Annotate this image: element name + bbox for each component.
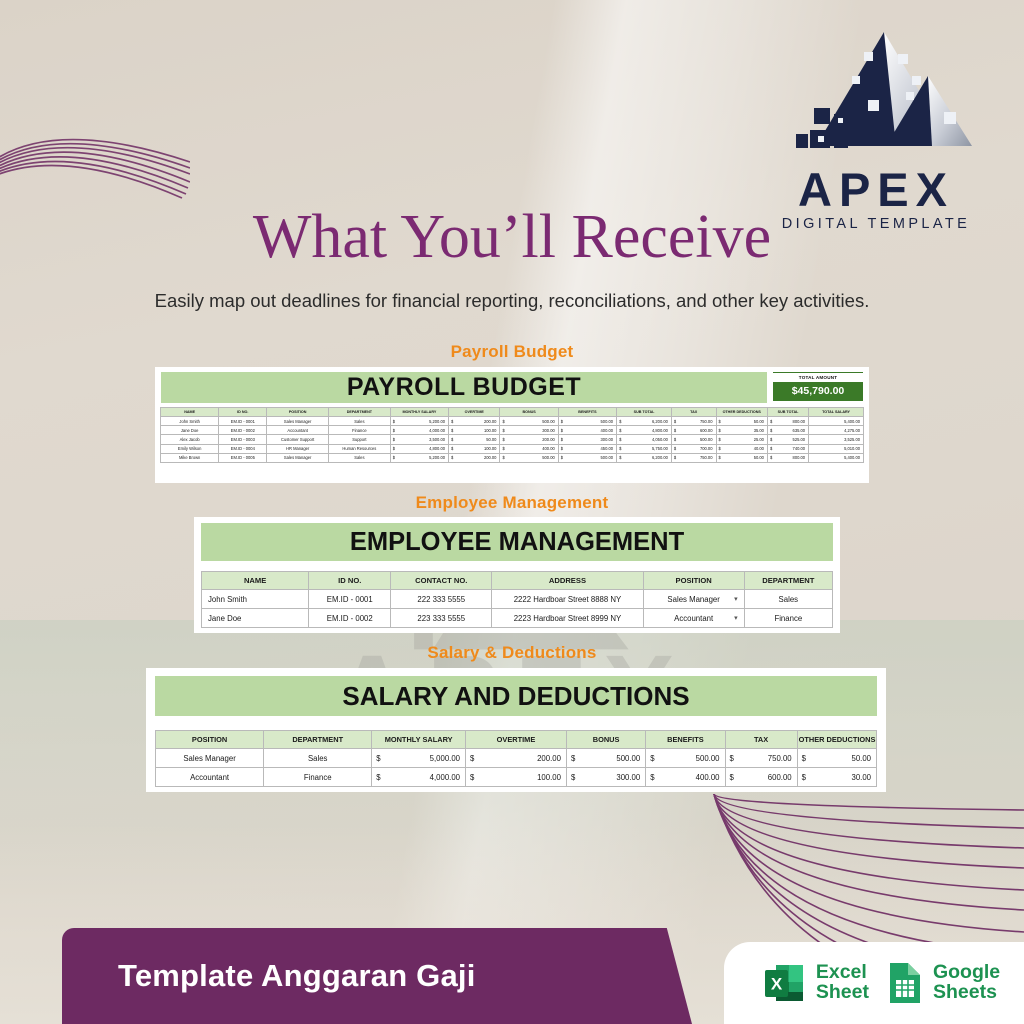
currency-symbol: $ <box>619 419 621 424</box>
col-contact: CONTACT NO. <box>391 572 492 590</box>
cell-total-salary[interactable]: 5,010.00 <box>809 444 864 453</box>
currency-symbol: $ <box>393 446 395 451</box>
cell-value: 750.00 <box>700 419 713 424</box>
col-department: DEPARTMENT <box>264 731 372 749</box>
table-row[interactable]: Mike Brown EM.ID - 0005 Sales Manager Sa… <box>161 453 864 462</box>
cell-sub-total-1[interactable]: $6,200.00 <box>617 453 672 462</box>
currency-symbol: $ <box>719 446 721 451</box>
currency-symbol: $ <box>674 455 676 460</box>
cell-name[interactable]: John Smith <box>202 590 309 609</box>
cell-benefits[interactable]: $500.00 <box>646 749 725 768</box>
cell-value: 4,050.00 <box>652 437 668 442</box>
cell-benefits[interactable]: $450.00 <box>558 444 616 453</box>
cell-department[interactable]: Finance <box>744 609 832 628</box>
cell-value: 500.00 <box>601 419 614 424</box>
cell-monthly-salary[interactable]: $4,000.00 <box>390 426 448 435</box>
cell-value: 500.00 <box>616 754 640 763</box>
cell-bonus[interactable]: $500.00 <box>566 749 645 768</box>
col-monthly-salary: MONTHLY SALARY <box>390 408 448 417</box>
cell-value: 3,500.00 <box>429 437 445 442</box>
cell-address[interactable]: 2222 Hardboar Street 8888 NY <box>492 590 643 609</box>
cell-department[interactable]: Finance <box>264 768 372 787</box>
cell-name[interactable]: Emily Wilson <box>161 444 219 453</box>
cell-address[interactable]: 2223 Hardboar Street 8999 NY <box>492 609 643 628</box>
table-row[interactable]: Alex Jacob EM.ID - 0003 Customer Support… <box>161 435 864 444</box>
cell-value: 800.00 <box>793 455 806 460</box>
excel-badge-line1: Excel <box>816 961 867 983</box>
cell-value: 300.00 <box>542 428 555 433</box>
cell-position-dropdown[interactable]: Sales Manager▾ <box>643 590 744 609</box>
cell-value: 100.00 <box>537 773 561 782</box>
cell-sub-total-1[interactable]: $4,050.00 <box>617 435 672 444</box>
table-row[interactable]: Jane Doe EM.ID - 0002 Accountant Finance… <box>161 426 864 435</box>
cell-other-deductions[interactable]: $40.00 <box>716 444 767 453</box>
currency-symbol: $ <box>571 773 575 782</box>
col-position: POSITION <box>643 572 744 590</box>
cell-position[interactable]: Sales Manager <box>267 453 329 462</box>
cell-value: 5,750.00 <box>652 446 668 451</box>
cell-value: 525.00 <box>793 437 806 442</box>
cell-bonus[interactable]: $300.00 <box>566 768 645 787</box>
salary-deductions-title: SALARY AND DEDUCTIONS <box>155 676 877 716</box>
currency-symbol: $ <box>674 428 676 433</box>
cell-benefits[interactable]: $500.00 <box>558 453 616 462</box>
cell-value: 400.00 <box>601 428 614 433</box>
cell-value: 4,000.00 <box>430 773 460 782</box>
col-position: POSITION <box>156 731 264 749</box>
currency-symbol: $ <box>674 437 676 442</box>
currency-symbol: $ <box>451 455 453 460</box>
cell-monthly-salary[interactable]: $3,500.00 <box>390 435 448 444</box>
cell-tax[interactable]: $600.00 <box>671 426 716 435</box>
google-sheets-icon <box>885 960 925 1006</box>
cell-value: 635.00 <box>793 428 806 433</box>
cell-value: 500.00 <box>542 455 555 460</box>
excel-badge-line2: Sheet <box>816 983 869 1003</box>
cell-overtime[interactable]: $100.00 <box>449 444 500 453</box>
cell-value: 6,200.00 <box>652 419 668 424</box>
cell-name[interactable]: Mike Brown <box>161 453 219 462</box>
currency-symbol: $ <box>770 428 772 433</box>
col-department: DEPARTMENT <box>744 572 832 590</box>
svg-text:X: X <box>771 975 783 994</box>
section-label-payroll-budget: Payroll Budget <box>0 342 1024 362</box>
cell-id[interactable]: EM.ID - 0001 <box>309 590 391 609</box>
currency-symbol: $ <box>802 754 806 763</box>
cell-value: 400.00 <box>696 773 720 782</box>
currency-symbol: $ <box>719 455 721 460</box>
cell-other-deductions[interactable]: $35.00 <box>716 426 767 435</box>
cell-id[interactable]: EM.ID - 0003 <box>219 435 267 444</box>
brand-logo: APEX DIGITAL TEMPLATE <box>766 24 986 232</box>
currency-symbol: $ <box>619 455 621 460</box>
cell-tax[interactable]: $600.00 <box>725 768 797 787</box>
cell-benefits[interactable]: $400.00 <box>646 768 725 787</box>
total-amount-value: $45,790.00 <box>773 382 863 401</box>
cell-total-salary[interactable]: 5,400.00 <box>809 453 864 462</box>
currency-symbol: $ <box>770 437 772 442</box>
cell-id[interactable]: EM.ID - 0005 <box>219 453 267 462</box>
section-label-employee-management: Employee Management <box>0 493 1024 513</box>
cell-value: 4,800.00 <box>652 428 668 433</box>
cell-id[interactable]: EM.ID - 0004 <box>219 444 267 453</box>
format-badges: X Excel Sheet Google Sheets <box>724 942 1024 1024</box>
cell-id[interactable]: EM.ID - 0002 <box>309 609 391 628</box>
payroll-budget-table: NAME ID NO. POSITION DEPARTMENT MONTHLY … <box>160 407 864 463</box>
payroll-total-amount-box: TOTAL AMOUNT $45,790.00 <box>773 372 863 403</box>
cell-other-deductions[interactable]: $25.00 <box>716 435 767 444</box>
cell-value: 5,000.00 <box>430 754 460 763</box>
table-header-row: NAME ID NO. CONTACT NO. ADDRESS POSITION… <box>202 572 833 590</box>
cell-position[interactable]: Sales Manager <box>156 749 264 768</box>
col-sub-total-1: SUB TOTAL <box>617 408 672 417</box>
chevron-down-icon[interactable]: ▾ <box>734 595 738 603</box>
page-subtitle: Easily map out deadlines for financial r… <box>0 290 1024 312</box>
col-tax: TAX <box>725 731 797 749</box>
cell-overtime[interactable]: $50.00 <box>449 435 500 444</box>
cell-contact[interactable]: 223 333 5555 <box>391 609 492 628</box>
cell-benefits[interactable]: $300.00 <box>558 435 616 444</box>
cell-name[interactable]: John Smith <box>161 417 219 426</box>
cell-sub-total-2[interactable]: $800.00 <box>767 453 808 462</box>
cell-department[interactable]: Sales <box>744 590 832 609</box>
cell-value: 740.00 <box>793 446 806 451</box>
bottom-ribbon: Template Anggaran Gaji <box>62 928 692 1024</box>
currency-symbol: $ <box>451 437 453 442</box>
cell-department[interactable]: Sales <box>264 749 372 768</box>
cell-position[interactable]: Accountant <box>156 768 264 787</box>
currency-symbol: $ <box>719 419 721 424</box>
cell-monthly-salary[interactable]: $4,000.00 <box>372 768 466 787</box>
ribbon-title: Template Anggaran Gaji <box>62 958 476 994</box>
currency-symbol: $ <box>674 419 676 424</box>
currency-symbol: $ <box>770 419 772 424</box>
currency-symbol: $ <box>502 419 504 424</box>
cell-value: 500.00 <box>696 754 720 763</box>
cell-sub-total-2[interactable]: $740.00 <box>767 444 808 453</box>
cell-tax[interactable]: $750.00 <box>725 749 797 768</box>
table-header-row: POSITION DEPARTMENT MONTHLY SALARY OVERT… <box>156 731 877 749</box>
payroll-budget-sheet: PAYROLL BUDGET TOTAL AMOUNT $45,790.00 N… <box>155 367 869 483</box>
cell-value: 750.00 <box>768 754 792 763</box>
cell-monthly-salary[interactable]: $5,200.00 <box>390 417 448 426</box>
google-sheets-badge[interactable]: Google Sheets <box>885 960 1000 1006</box>
cell-value: 750.00 <box>700 455 713 460</box>
section-label-salary-deductions: Salary & Deductions <box>0 643 1024 663</box>
cell-monthly-salary[interactable]: $5,000.00 <box>372 749 466 768</box>
col-department: DEPARTMENT <box>329 408 391 417</box>
salary-deductions-sheet: SALARY AND DEDUCTIONS POSITION DEPARTMEN… <box>146 668 886 792</box>
cell-bonus[interactable]: $500.00 <box>500 417 558 426</box>
currency-symbol: $ <box>730 773 734 782</box>
table-row[interactable]: Accountant Finance $4,000.00 $100.00 $30… <box>156 768 877 787</box>
cell-sub-total-2[interactable]: $635.00 <box>767 426 808 435</box>
cell-department[interactable]: Human Resources <box>329 444 391 453</box>
cell-tax[interactable]: $500.00 <box>671 435 716 444</box>
cell-value: 50.00 <box>486 437 496 442</box>
col-tax: TAX <box>671 408 716 417</box>
cell-bonus[interactable]: $500.00 <box>500 453 558 462</box>
cell-name[interactable]: Jane Doe <box>202 609 309 628</box>
mountain-pixel-logo-icon <box>776 24 976 164</box>
col-address: ADDRESS <box>492 572 643 590</box>
cell-bonus[interactable]: $300.00 <box>500 426 558 435</box>
excel-icon: X <box>762 960 808 1006</box>
cell-value: Accountant <box>674 614 713 623</box>
currency-symbol: $ <box>619 428 621 433</box>
cell-sub-total-1[interactable]: $6,200.00 <box>617 417 672 426</box>
cell-other-deductions[interactable]: $50.00 <box>716 453 767 462</box>
chevron-down-icon[interactable]: ▾ <box>734 614 738 622</box>
cell-position[interactable]: Accountant <box>267 426 329 435</box>
currency-symbol: $ <box>561 455 563 460</box>
currency-symbol: $ <box>376 754 380 763</box>
cell-total-salary[interactable]: 3,525.00 <box>809 435 864 444</box>
currency-symbol: $ <box>571 754 575 763</box>
currency-symbol: $ <box>451 419 453 424</box>
currency-symbol: $ <box>470 754 474 763</box>
currency-symbol: $ <box>561 437 563 442</box>
cell-benefits[interactable]: $500.00 <box>558 417 616 426</box>
cell-value: 600.00 <box>700 428 713 433</box>
excel-badge[interactable]: X Excel Sheet <box>762 960 869 1006</box>
cell-department[interactable]: Sales <box>329 417 391 426</box>
table-row[interactable]: John Smith EM.ID - 0001 Sales Manager Sa… <box>161 417 864 426</box>
cell-value: 500.00 <box>601 455 614 460</box>
cell-department[interactable]: Sales <box>329 453 391 462</box>
cell-overtime[interactable]: $200.00 <box>449 453 500 462</box>
cell-value: 600.00 <box>768 773 792 782</box>
cell-value: 300.00 <box>601 437 614 442</box>
cell-value: 200.00 <box>484 455 497 460</box>
total-amount-label: TOTAL AMOUNT <box>773 372 863 380</box>
cell-sub-total-1[interactable]: $4,800.00 <box>617 426 672 435</box>
table-row[interactable]: Sales Manager Sales $5,000.00 $200.00 $5… <box>156 749 877 768</box>
table-row[interactable]: John Smith EM.ID - 0001 222 333 5555 222… <box>202 590 833 609</box>
cell-value: 3,525.00 <box>844 437 860 442</box>
cell-value: 200.00 <box>484 419 497 424</box>
col-name: NAME <box>202 572 309 590</box>
currency-symbol: $ <box>376 773 380 782</box>
cell-contact[interactable]: 222 333 5555 <box>391 590 492 609</box>
cell-sub-total-2[interactable]: $800.00 <box>767 417 808 426</box>
col-id: ID NO. <box>219 408 267 417</box>
currency-symbol: $ <box>502 437 504 442</box>
table-header-row: NAME ID NO. POSITION DEPARTMENT MONTHLY … <box>161 408 864 417</box>
currency-symbol: $ <box>561 428 563 433</box>
cell-sub-total-2[interactable]: $525.00 <box>767 435 808 444</box>
payroll-budget-title: PAYROLL BUDGET <box>161 372 767 403</box>
cell-value: 5,200.00 <box>429 419 445 424</box>
col-benefits: BENEFITS <box>646 731 725 749</box>
table-row[interactable]: Jane Doe EM.ID - 0002 223 333 5555 2223 … <box>202 609 833 628</box>
cell-value: 500.00 <box>542 419 555 424</box>
salary-deductions-table: POSITION DEPARTMENT MONTHLY SALARY OVERT… <box>155 730 877 787</box>
cell-value: 50.00 <box>754 419 764 424</box>
currency-symbol: $ <box>730 754 734 763</box>
currency-symbol: $ <box>561 446 563 451</box>
col-sub-total-2: SUB TOTAL <box>767 408 808 417</box>
cell-value: 4,800.00 <box>429 446 445 451</box>
currency-symbol: $ <box>470 773 474 782</box>
cell-value: 6,200.00 <box>652 455 668 460</box>
currency-symbol: $ <box>451 428 453 433</box>
cell-value: 50.00 <box>754 455 764 460</box>
cell-tax[interactable]: $750.00 <box>671 417 716 426</box>
cell-value: 35.00 <box>754 428 764 433</box>
currency-symbol: $ <box>619 446 621 451</box>
cell-value: 400.00 <box>542 446 555 451</box>
employee-management-table: NAME ID NO. CONTACT NO. ADDRESS POSITION… <box>201 571 833 628</box>
cell-total-salary[interactable]: 4,275.00 <box>809 426 864 435</box>
currency-symbol: $ <box>719 428 721 433</box>
cell-other-deductions[interactable]: $30.00 <box>797 768 876 787</box>
col-id: ID NO. <box>309 572 391 590</box>
google-sheets-badge-label: Google Sheets <box>933 963 1000 1003</box>
currency-symbol: $ <box>502 446 504 451</box>
cell-benefits[interactable]: $400.00 <box>558 426 616 435</box>
cell-overtime[interactable]: $100.00 <box>449 426 500 435</box>
col-benefits: BENEFITS <box>558 408 616 417</box>
cell-value: 30.00 <box>851 773 871 782</box>
currency-symbol: $ <box>619 437 621 442</box>
cell-id[interactable]: EM.ID - 0001 <box>219 417 267 426</box>
cell-value: 4,275.00 <box>844 428 860 433</box>
cell-overtime[interactable]: $200.00 <box>449 417 500 426</box>
cell-total-salary[interactable]: 5,400.00 <box>809 417 864 426</box>
employee-management-sheet: EMPLOYEE MANAGEMENT NAME ID NO. CONTACT … <box>194 517 840 633</box>
currency-symbol: $ <box>770 446 772 451</box>
currency-symbol: $ <box>802 773 806 782</box>
cell-value: 800.00 <box>793 419 806 424</box>
currency-symbol: $ <box>393 455 395 460</box>
currency-symbol: $ <box>561 419 563 424</box>
cell-value: 500.00 <box>700 437 713 442</box>
col-other-deductions: OTHER DEDUCTIONS <box>797 731 876 749</box>
google-sheets-badge-line2: Sheets <box>933 983 1000 1003</box>
col-other-deductions: OTHER DEDUCTIONS <box>716 408 767 417</box>
currency-symbol: $ <box>451 446 453 451</box>
cell-value: 25.00 <box>754 437 764 442</box>
col-total-salary: TOTAL SALARY <box>809 408 864 417</box>
cell-tax[interactable]: $700.00 <box>671 444 716 453</box>
cell-monthly-salary[interactable]: $4,800.00 <box>390 444 448 453</box>
cell-monthly-salary[interactable]: $5,200.00 <box>390 453 448 462</box>
google-sheets-badge-line1: Google <box>933 961 1000 983</box>
cell-department[interactable]: Finance <box>329 426 391 435</box>
cell-value: 450.00 <box>601 446 614 451</box>
cell-overtime[interactable]: $100.00 <box>466 768 567 787</box>
currency-symbol: $ <box>393 419 395 424</box>
cell-value: 4,000.00 <box>429 428 445 433</box>
cell-value: 50.00 <box>851 754 871 763</box>
cell-value: 5,010.00 <box>844 446 860 451</box>
cell-bonus[interactable]: $400.00 <box>500 444 558 453</box>
cell-value: Sales Manager <box>667 595 719 604</box>
table-row[interactable]: Emily Wilson EM.ID - 0004 HR Manager Hum… <box>161 444 864 453</box>
col-position: POSITION <box>267 408 329 417</box>
col-bonus: BONUS <box>500 408 558 417</box>
currency-symbol: $ <box>502 455 504 460</box>
cell-position[interactable]: Sales Manager <box>267 417 329 426</box>
page-title: What You’ll Receive <box>0 206 1024 268</box>
cell-value: 5,400.00 <box>844 455 860 460</box>
cell-other-deductions[interactable]: $50.00 <box>716 417 767 426</box>
col-overtime: OVERTIME <box>466 731 567 749</box>
currency-symbol: $ <box>674 446 676 451</box>
currency-symbol: $ <box>650 754 654 763</box>
col-bonus: BONUS <box>566 731 645 749</box>
currency-symbol: $ <box>393 437 395 442</box>
cell-bonus[interactable]: $200.00 <box>500 435 558 444</box>
cell-value: 40.00 <box>754 446 764 451</box>
cell-value: 5,200.00 <box>429 455 445 460</box>
currency-symbol: $ <box>770 455 772 460</box>
cell-value: 100.00 <box>484 446 497 451</box>
cell-name[interactable]: Alex Jacob <box>161 435 219 444</box>
cell-position[interactable]: Customer Support <box>267 435 329 444</box>
cell-department[interactable]: Support <box>329 435 391 444</box>
cell-value: 300.00 <box>616 773 640 782</box>
cell-other-deductions[interactable]: $50.00 <box>797 749 876 768</box>
cell-value: 200.00 <box>542 437 555 442</box>
col-name: NAME <box>161 408 219 417</box>
currency-symbol: $ <box>650 773 654 782</box>
employee-management-title: EMPLOYEE MANAGEMENT <box>201 523 833 561</box>
cell-value: 200.00 <box>537 754 561 763</box>
cell-value: 5,400.00 <box>844 419 860 424</box>
cell-overtime[interactable]: $200.00 <box>466 749 567 768</box>
cell-value: 700.00 <box>700 446 713 451</box>
cell-tax[interactable]: $750.00 <box>671 453 716 462</box>
excel-badge-label: Excel Sheet <box>816 963 869 1003</box>
col-overtime: OVERTIME <box>449 408 500 417</box>
decorative-arcs-top-left-icon <box>0 110 190 200</box>
cell-position-dropdown[interactable]: Accountant▾ <box>643 609 744 628</box>
currency-symbol: $ <box>719 437 721 442</box>
col-monthly-salary: MONTHLY SALARY <box>372 731 466 749</box>
cell-sub-total-1[interactable]: $5,750.00 <box>617 444 672 453</box>
payroll-budget-header: PAYROLL BUDGET TOTAL AMOUNT $45,790.00 <box>155 367 869 406</box>
cell-name[interactable]: Jane Doe <box>161 426 219 435</box>
currency-symbol: $ <box>393 428 395 433</box>
cell-value: 100.00 <box>484 428 497 433</box>
cell-position[interactable]: HR Manager <box>267 444 329 453</box>
cell-id[interactable]: EM.ID - 0002 <box>219 426 267 435</box>
currency-symbol: $ <box>502 428 504 433</box>
